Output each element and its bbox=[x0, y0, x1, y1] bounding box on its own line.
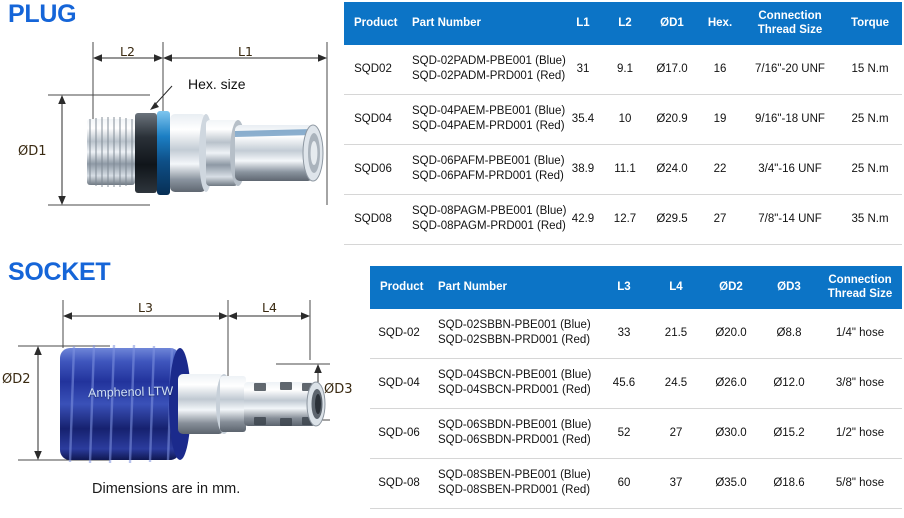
cell-part-number: SQD-04PAEM-PBE001 (Blue) SQD-04PAEM-PRD0… bbox=[402, 94, 562, 144]
part-number-blue: SQD-08SBEN-PBE001 (Blue) bbox=[438, 468, 596, 484]
cell-connection: 3/4"-16 UNF bbox=[742, 144, 838, 194]
header-connection-line2: Thread Size bbox=[758, 24, 823, 36]
header-d2: ØD2 bbox=[702, 266, 760, 309]
cell-part-number: SQD-06SBDN-PBE001 (Blue) SQD-06SBDN-PRD0… bbox=[428, 408, 598, 458]
socket-product-image bbox=[50, 340, 350, 470]
header-part-number: Part Number bbox=[402, 2, 562, 45]
header-connection-line1: Connection bbox=[758, 10, 821, 22]
part-number-blue: SQD-06SBDN-PBE001 (Blue) bbox=[438, 418, 596, 434]
header-l4: L4 bbox=[650, 266, 702, 309]
table-row: SQD06 SQD-06PAFM-PBE001 (Blue) SQD-06PAF… bbox=[344, 144, 902, 194]
cell-d2: Ø26.0 bbox=[702, 358, 760, 408]
cell-torque: 25 N.m bbox=[838, 94, 902, 144]
cell-connection: 9/16"-18 UNF bbox=[742, 94, 838, 144]
cell-connection: 5/8" hose bbox=[818, 458, 902, 508]
part-number-red: SQD-02PADM-PRD001 (Red) bbox=[412, 69, 560, 85]
cell-connection: 1/2" hose bbox=[818, 408, 902, 458]
table-row: SQD-02 SQD-02SBBN-PBE001 (Blue) SQD-02SB… bbox=[370, 309, 902, 359]
cell-product: SQD-06 bbox=[370, 408, 428, 458]
plug-l2-label: L2 bbox=[120, 44, 135, 59]
cell-d3: Ø12.0 bbox=[760, 358, 818, 408]
cell-part-number: SQD-08PAGM-PBE001 (Blue) SQD-08PAGM-PRD0… bbox=[402, 194, 562, 244]
part-number-blue: SQD-02PADM-PBE001 (Blue) bbox=[412, 54, 560, 70]
cell-d1: Ø20.9 bbox=[646, 94, 698, 144]
cell-hex: 22 bbox=[698, 144, 742, 194]
cell-l2: 11.1 bbox=[604, 144, 646, 194]
table-row: SQD-04 SQD-04SBCN-PBE001 (Blue) SQD-04SB… bbox=[370, 358, 902, 408]
part-number-red: SQD-06SBDN-PRD001 (Red) bbox=[438, 433, 596, 449]
plug-specs-table: Product Part Number L1 L2 ØD1 Hex. Conne… bbox=[344, 2, 902, 245]
cell-part-number: SQD-06PAFM-PBE001 (Blue) SQD-06PAFM-PRD0… bbox=[402, 144, 562, 194]
cell-product: SQD08 bbox=[344, 194, 402, 244]
cell-l1: 38.9 bbox=[562, 144, 604, 194]
socket-table-header-row: Product Part Number L3 L4 ØD2 ØD3 Connec… bbox=[370, 266, 902, 309]
socket-d2-label: ØD2 bbox=[2, 372, 31, 387]
cell-l1: 35.4 bbox=[562, 94, 604, 144]
header-connection-line2: Thread Size bbox=[828, 288, 893, 300]
plug-table-header-row: Product Part Number L1 L2 ØD1 Hex. Conne… bbox=[344, 2, 902, 45]
header-torque: Torque bbox=[838, 2, 902, 45]
cell-d2: Ø35.0 bbox=[702, 458, 760, 508]
cell-product: SQD-04 bbox=[370, 358, 428, 408]
part-number-red: SQD-08PAGM-PRD001 (Red) bbox=[412, 219, 560, 235]
cell-d3: Ø15.2 bbox=[760, 408, 818, 458]
dimensions-note: Dimensions are in mm. bbox=[92, 481, 240, 497]
diagram-panel: PLUG L2 L1 ØD1 Hex. size bbox=[0, 0, 340, 518]
socket-l3-label: L3 bbox=[138, 300, 153, 315]
cell-product: SQD04 bbox=[344, 94, 402, 144]
cell-connection: 7/16"-20 UNF bbox=[742, 45, 838, 95]
part-number-red: SQD-04SBCN-PRD001 (Red) bbox=[438, 383, 596, 399]
socket-l4-label: L4 bbox=[262, 300, 277, 315]
socket-specs-table: Product Part Number L3 L4 ØD2 ØD3 Connec… bbox=[370, 266, 902, 509]
cell-product: SQD02 bbox=[344, 45, 402, 95]
plug-product-image bbox=[85, 98, 345, 208]
header-product: Product bbox=[370, 266, 428, 309]
cell-product: SQD-08 bbox=[370, 458, 428, 508]
cell-connection: 3/8" hose bbox=[818, 358, 902, 408]
header-l1: L1 bbox=[562, 2, 604, 45]
socket-brand-label: Amphenol LTW bbox=[88, 384, 174, 400]
cell-d3: Ø8.8 bbox=[760, 309, 818, 359]
cell-l3: 52 bbox=[598, 408, 650, 458]
cell-l2: 10 bbox=[604, 94, 646, 144]
cell-d1: Ø29.5 bbox=[646, 194, 698, 244]
header-connection-line1: Connection bbox=[828, 274, 891, 286]
cell-hex: 19 bbox=[698, 94, 742, 144]
header-product: Product bbox=[344, 2, 402, 45]
cell-l1: 31 bbox=[562, 45, 604, 95]
table-row: SQD-08 SQD-08SBEN-PBE001 (Blue) SQD-08SB… bbox=[370, 458, 902, 508]
header-connection-thread-size: Connection Thread Size bbox=[742, 2, 838, 45]
table-row: SQD02 SQD-02PADM-PBE001 (Blue) SQD-02PAD… bbox=[344, 45, 902, 95]
cell-product: SQD06 bbox=[344, 144, 402, 194]
table-row: SQD08 SQD-08PAGM-PBE001 (Blue) SQD-08PAG… bbox=[344, 194, 902, 244]
cell-l2: 12.7 bbox=[604, 194, 646, 244]
header-l3: L3 bbox=[598, 266, 650, 309]
part-number-blue: SQD-04SBCN-PBE001 (Blue) bbox=[438, 368, 596, 384]
part-number-red: SQD-06PAFM-PRD001 (Red) bbox=[412, 169, 560, 185]
cell-l1: 42.9 bbox=[562, 194, 604, 244]
plug-hex-size-label: Hex. size bbox=[188, 76, 246, 92]
header-hex: Hex. bbox=[698, 2, 742, 45]
part-number-blue: SQD-06PAFM-PBE001 (Blue) bbox=[412, 154, 560, 170]
cell-part-number: SQD-08SBEN-PBE001 (Blue) SQD-08SBEN-PRD0… bbox=[428, 458, 598, 508]
part-number-blue: SQD-08PAGM-PBE001 (Blue) bbox=[412, 204, 560, 220]
header-l2: L2 bbox=[604, 2, 646, 45]
cell-connection: 7/8"-14 UNF bbox=[742, 194, 838, 244]
cell-l4: 27 bbox=[650, 408, 702, 458]
cell-connection: 1/4" hose bbox=[818, 309, 902, 359]
header-connection-thread-size: Connection Thread Size bbox=[818, 266, 902, 309]
cell-hex: 16 bbox=[698, 45, 742, 95]
table-row: SQD04 SQD-04PAEM-PBE001 (Blue) SQD-04PAE… bbox=[344, 94, 902, 144]
cell-l4: 24.5 bbox=[650, 358, 702, 408]
header-d3: ØD3 bbox=[760, 266, 818, 309]
part-number-red: SQD-08SBEN-PRD001 (Red) bbox=[438, 483, 596, 499]
cell-product: SQD-02 bbox=[370, 309, 428, 359]
table-row: SQD-06 SQD-06SBDN-PBE001 (Blue) SQD-06SB… bbox=[370, 408, 902, 458]
cell-l3: 45.6 bbox=[598, 358, 650, 408]
part-number-red: SQD-02SBBN-PRD001 (Red) bbox=[438, 333, 596, 349]
plug-l1-label: L1 bbox=[238, 44, 253, 59]
part-number-blue: SQD-04PAEM-PBE001 (Blue) bbox=[412, 104, 560, 120]
cell-l3: 60 bbox=[598, 458, 650, 508]
socket-section-title: SOCKET bbox=[8, 258, 110, 287]
cell-d1: Ø24.0 bbox=[646, 144, 698, 194]
cell-part-number: SQD-04SBCN-PBE001 (Blue) SQD-04SBCN-PRD0… bbox=[428, 358, 598, 408]
cell-torque: 15 N.m bbox=[838, 45, 902, 95]
header-d1: ØD1 bbox=[646, 2, 698, 45]
cell-part-number: SQD-02PADM-PBE001 (Blue) SQD-02PADM-PRD0… bbox=[402, 45, 562, 95]
plug-d1-label: ØD1 bbox=[18, 144, 47, 159]
cell-l4: 37 bbox=[650, 458, 702, 508]
cell-l4: 21.5 bbox=[650, 309, 702, 359]
cell-torque: 35 N.m bbox=[838, 194, 902, 244]
cell-d2: Ø20.0 bbox=[702, 309, 760, 359]
cell-d1: Ø17.0 bbox=[646, 45, 698, 95]
cell-torque: 25 N.m bbox=[838, 144, 902, 194]
cell-hex: 27 bbox=[698, 194, 742, 244]
cell-part-number: SQD-02SBBN-PBE001 (Blue) SQD-02SBBN-PRD0… bbox=[428, 309, 598, 359]
cell-l2: 9.1 bbox=[604, 45, 646, 95]
cell-l3: 33 bbox=[598, 309, 650, 359]
cell-d2: Ø30.0 bbox=[702, 408, 760, 458]
cell-d3: Ø18.6 bbox=[760, 458, 818, 508]
header-part-number: Part Number bbox=[428, 266, 598, 309]
part-number-blue: SQD-02SBBN-PBE001 (Blue) bbox=[438, 318, 596, 334]
part-number-red: SQD-04PAEM-PRD001 (Red) bbox=[412, 119, 560, 135]
